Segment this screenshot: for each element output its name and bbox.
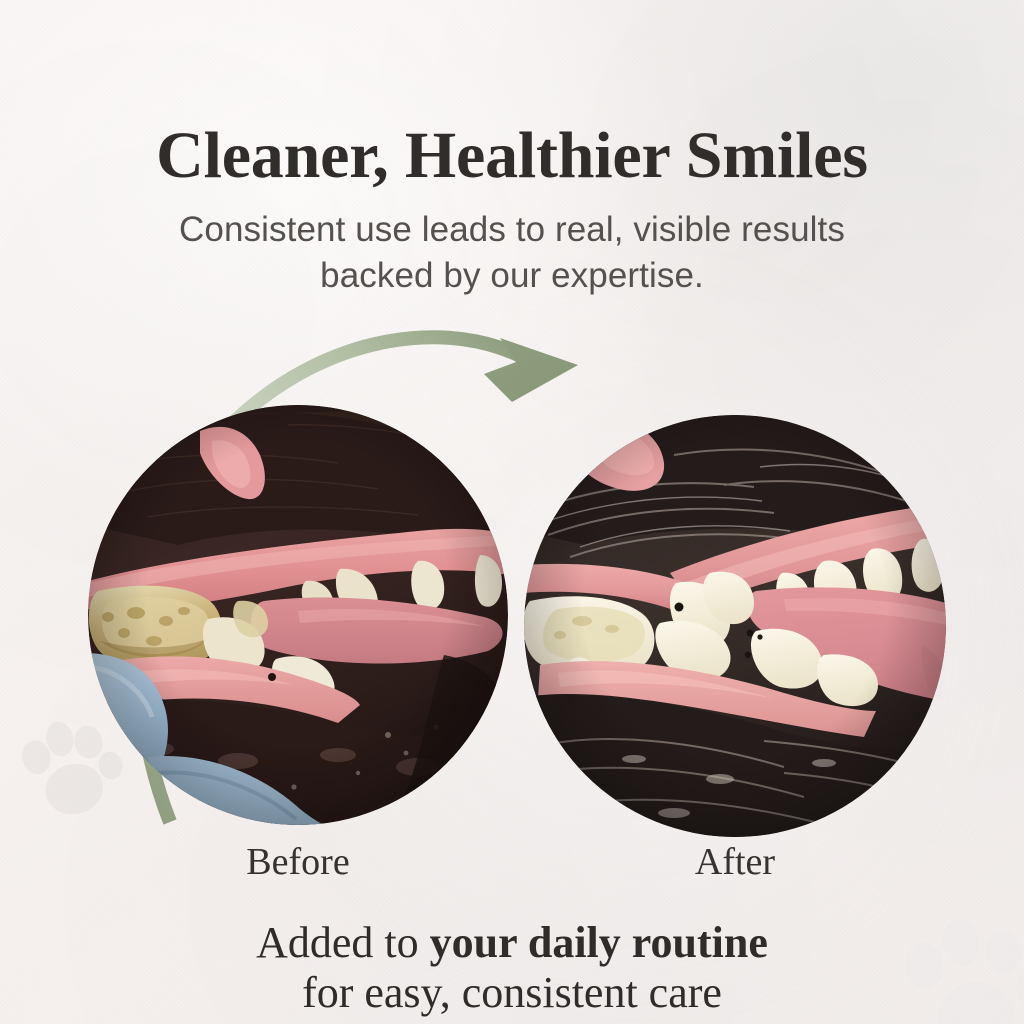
after-label: After [524,840,946,884]
page-title: Cleaner, Healthier Smiles [0,122,1024,189]
footer-line-1: Added to your daily routine [0,918,1024,968]
footer-line-1-plain: Added to [256,918,430,967]
before-photo-circle [88,405,508,825]
subtitle-line-1: Consistent use leads to real, visible re… [0,207,1024,253]
footer-text: Added to your daily routine for easy, co… [0,918,1024,1018]
subtitle: Consistent use leads to real, visible re… [0,207,1024,298]
paw-print-icon [8,712,128,832]
subtitle-line-2: backed by our expertise. [0,253,1024,299]
before-label: Before [88,840,508,884]
footer-line-1-emphasis: your daily routine [430,918,768,967]
after-photo-circle [524,415,946,837]
promo-poster: Cleaner, Healthier Smiles Consistent use… [0,0,1024,1024]
footer-line-2: for easy, consistent care [0,968,1024,1018]
